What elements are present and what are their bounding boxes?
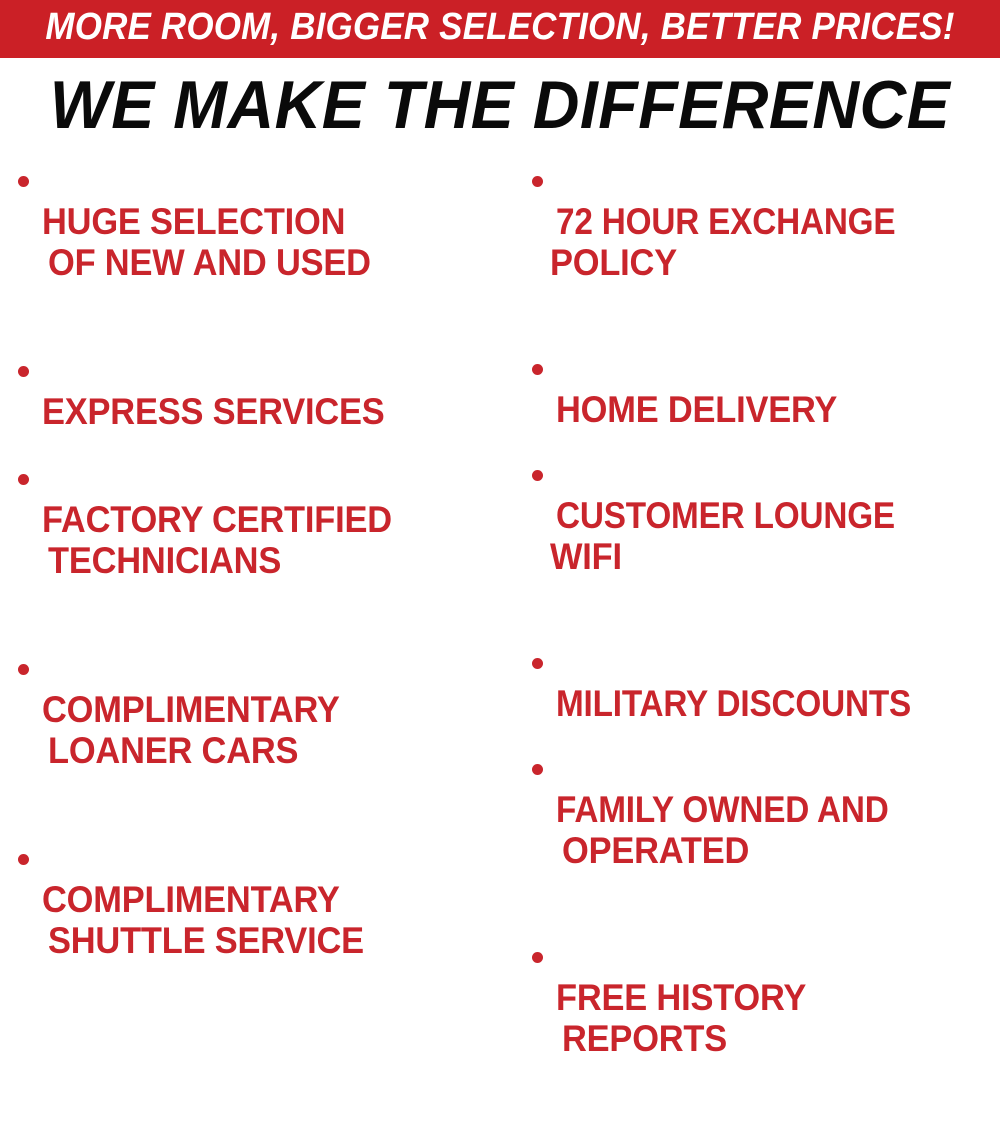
- list-item-line2: OF NEW AND USED: [48, 242, 478, 283]
- main-headline: WE MAKE THE DIFFERENCE: [25, 68, 975, 142]
- bullet-dot-icon: [532, 658, 543, 669]
- bullet-dot-icon: [532, 176, 543, 187]
- list-item-text: FREE HISTORY REPORTS: [556, 936, 1000, 1100]
- bullet-dot-icon: [532, 364, 543, 375]
- dealership-benefits-banner: MORE ROOM, BIGGER SELECTION, BETTER PRIC…: [0, 0, 1000, 694]
- list-item-text: HUGE SELECTION OF NEW AND USED: [42, 160, 510, 324]
- list-item: HUGE SELECTION OF NEW AND USED: [18, 160, 510, 324]
- list-item: FACTORY CERTIFIED TECHNICIANS: [18, 458, 510, 622]
- top-red-banner: MORE ROOM, BIGGER SELECTION, BETTER PRIC…: [0, 0, 1000, 58]
- benefits-column-left: HUGE SELECTION OF NEW AND USED EXPRESS S…: [0, 160, 510, 1028]
- list-item: EXPRESS SERVICES: [18, 350, 510, 432]
- list-item-text: HOME DELIVERY: [556, 348, 1000, 430]
- list-item-line1: FREE HISTORY: [556, 977, 806, 1018]
- list-item-line1: CUSTOMER LOUNGE: [556, 495, 895, 536]
- bullet-dot-icon: [532, 470, 543, 481]
- bullet-dot-icon: [18, 854, 29, 865]
- list-item-line1: MILITARY DISCOUNTS: [556, 683, 911, 724]
- list-item-line1: COMPLIMENTARY: [42, 689, 340, 730]
- list-item-line1: HUGE SELECTION: [42, 201, 345, 242]
- benefits-column-right: 72 HOUR EXCHANGE POLICY HOME DELIVERY CU…: [510, 160, 1000, 1124]
- bullet-dot-icon: [18, 366, 29, 377]
- list-item-text: MILITARY DISCOUNTS: [556, 642, 1000, 724]
- list-item: HOME DELIVERY: [532, 348, 1000, 430]
- list-item: COMPLIMENTARY LOANER CARS: [18, 648, 510, 812]
- bullet-dot-icon: [532, 764, 543, 775]
- bullet-dot-icon: [18, 474, 29, 485]
- list-item-line2: TECHNICIANS: [48, 540, 478, 581]
- list-item-line2: LOANER CARS: [48, 730, 478, 771]
- list-item-line2: POLICY: [550, 242, 969, 283]
- list-item: 72 HOUR EXCHANGE POLICY: [532, 160, 1000, 324]
- benefits-columns: HUGE SELECTION OF NEW AND USED EXPRESS S…: [0, 160, 1000, 694]
- list-item-line2: WIFI: [550, 536, 969, 577]
- list-item: FREE HISTORY REPORTS: [532, 936, 1000, 1100]
- list-item-text: FAMILY OWNED AND OPERATED: [556, 748, 1000, 912]
- list-item: MILITARY DISCOUNTS: [532, 642, 1000, 724]
- list-item-line1: FAMILY OWNED AND: [556, 789, 889, 830]
- list-item-text: 72 HOUR EXCHANGE POLICY: [556, 160, 1000, 324]
- list-item-text: EXPRESS SERVICES: [42, 350, 510, 432]
- bullet-dot-icon: [18, 664, 29, 675]
- list-item-text: FACTORY CERTIFIED TECHNICIANS: [42, 458, 510, 622]
- list-item-line1: COMPLIMENTARY: [42, 879, 340, 920]
- list-item-text: COMPLIMENTARY SHUTTLE SERVICE: [42, 838, 510, 1002]
- list-item: FAMILY OWNED AND OPERATED: [532, 748, 1000, 912]
- list-item-line2: OPERATED: [562, 830, 969, 871]
- list-item-line2: REPORTS: [562, 1018, 969, 1059]
- top-banner-headline: MORE ROOM, BIGGER SELECTION, BETTER PRIC…: [40, 7, 960, 47]
- list-item-text: COMPLIMENTARY LOANER CARS: [42, 648, 510, 812]
- list-item-line1: 72 HOUR EXCHANGE: [556, 201, 895, 242]
- list-item-line1: EXPRESS SERVICES: [42, 391, 385, 432]
- list-item: COMPLIMENTARY SHUTTLE SERVICE: [18, 838, 510, 1002]
- list-item-line1: HOME DELIVERY: [556, 389, 837, 430]
- list-item: CUSTOMER LOUNGE WIFI: [532, 454, 1000, 618]
- bullet-dot-icon: [532, 952, 543, 963]
- list-item-text: CUSTOMER LOUNGE WIFI: [556, 454, 1000, 618]
- list-item-line1: FACTORY CERTIFIED: [42, 499, 392, 540]
- list-item-line2: SHUTTLE SERVICE: [48, 920, 478, 961]
- bullet-dot-icon: [18, 176, 29, 187]
